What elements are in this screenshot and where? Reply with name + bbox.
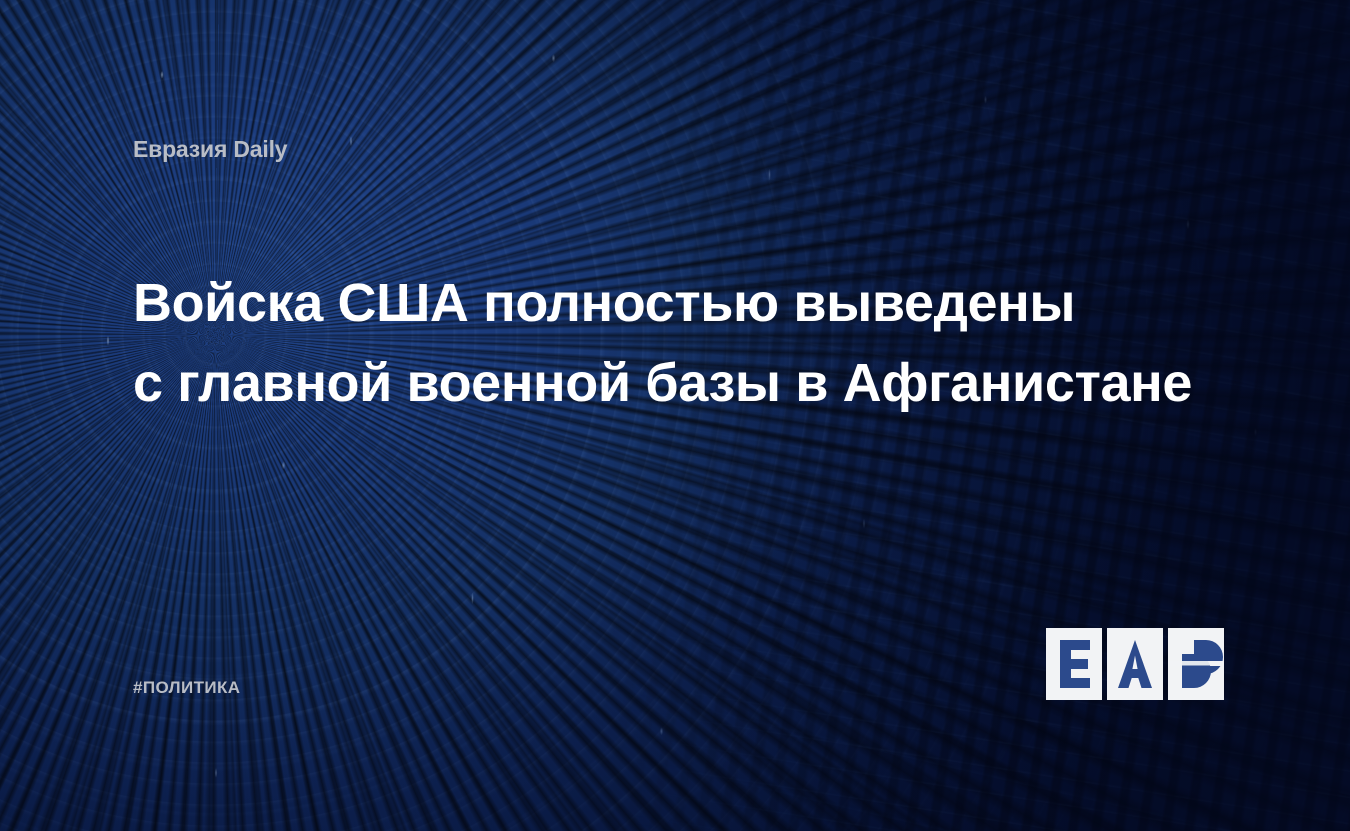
category-hashtag: #ПОЛИТИКА — [133, 678, 240, 698]
card-content: Евразия Daily Войска США полностью вывед… — [0, 0, 1350, 831]
letter-d-split-icon — [1168, 628, 1224, 700]
letter-e-icon — [1046, 628, 1102, 700]
headline: Войска США полностью выведены с главной … — [133, 263, 1233, 423]
news-cover-card: Евразия Daily Войска США полностью вывед… — [0, 0, 1350, 831]
headline-line-2: с главной военной базы в Афганистане — [133, 343, 1233, 423]
letter-a-icon — [1107, 628, 1163, 700]
brand-name: Евразия Daily — [133, 136, 287, 163]
headline-line-1: Войска США полностью выведены — [133, 263, 1233, 343]
eadaily-logo[interactable] — [1046, 628, 1224, 700]
